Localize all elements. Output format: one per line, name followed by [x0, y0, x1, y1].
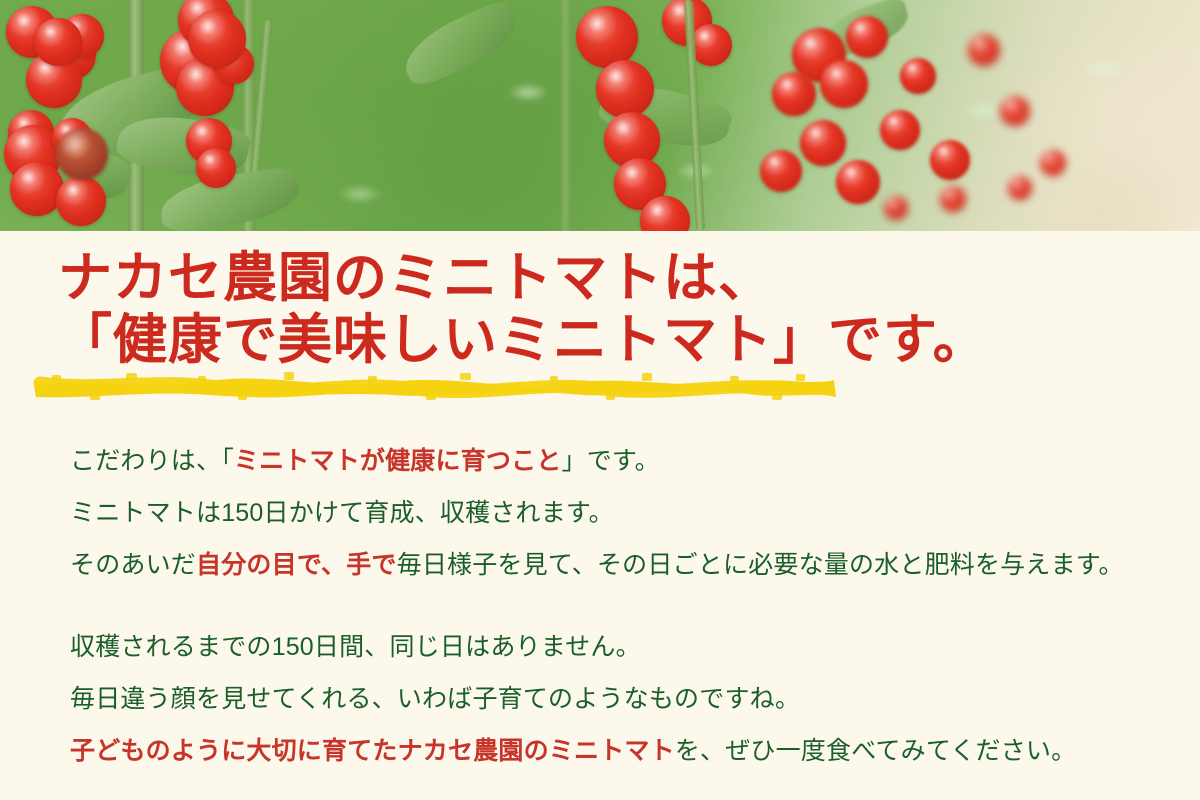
- headline-line-2-text: 「健康で美味しいミニトマト」です。: [58, 310, 988, 370]
- paragraph-spacer: [70, 591, 1170, 621]
- tomato-fruit: [930, 140, 970, 180]
- tomato-fruit: [1000, 96, 1030, 126]
- body-line-4-seg-1: 収穫されるまでの150日間、同じ日はありません。: [70, 633, 641, 661]
- body-line-3: そのあいだ自分の目で、手で毎日様子を見て、その日ごとに必要な量の水と肥料を与えま…: [70, 539, 1170, 591]
- body-line-1-seg-1: こだわりは、「: [70, 447, 234, 475]
- headline-line-2: 「健康で美味しいミニトマト」です。: [58, 309, 1148, 371]
- tomato-fruit: [196, 148, 236, 188]
- body-line-2: ミニトマトは150日かけて育成、収穫されます。: [70, 487, 1170, 539]
- headline-line-1: ナカセ農園のミニトマトは、: [58, 247, 1148, 309]
- tomato-fruit: [772, 72, 816, 116]
- body-line-3-seg-2-highlight: 自分の目で、手で: [196, 551, 397, 579]
- tomato-fruit: [56, 176, 106, 226]
- tomato-fruit: [880, 110, 920, 150]
- tomato-fruit: [940, 186, 966, 212]
- tomato-fruit: [884, 196, 908, 220]
- page-title: ナカセ農園のミニトマトは、 「健康で美味しいミニトマト」です。: [58, 247, 1148, 371]
- tomato-fruit: [836, 160, 880, 204]
- body-line-5: 毎日違う顔を見せてくれる、いわば子育てのようなものですね。: [70, 673, 1170, 725]
- tomato-fruit: [820, 60, 868, 108]
- tomato-fruit: [34, 18, 82, 66]
- tomato-fruit: [1008, 176, 1032, 200]
- tomato-fruit: [188, 10, 246, 68]
- tomato-fruit-unripe: [56, 128, 108, 180]
- body-line-1-seg-3: 」です。: [562, 447, 660, 475]
- body-line-3-seg-3: 毎日様子を見て、その日ごとに必要な量の水と肥料を与えます。: [397, 551, 1124, 579]
- body-line-6-seg-2: を、ぜひ一度食べてみてください。: [675, 737, 1076, 765]
- tomato-fruit: [968, 34, 1000, 66]
- body-line-3-seg-1: そのあいだ: [70, 551, 196, 579]
- yellow-highlight-stroke: [30, 370, 838, 400]
- body-line-1-seg-2-highlight: ミニトマトが健康に育つこと: [234, 447, 562, 475]
- body-line-6-seg-1-highlight: 子どものように大切に育てたナカセ農園のミニトマト: [70, 737, 675, 765]
- tomato-fruit: [846, 16, 888, 58]
- body-line-4: 収穫されるまでの150日間、同じ日はありません。: [70, 621, 1170, 673]
- tomato-fruit: [760, 150, 802, 192]
- tomato-fruit: [690, 24, 732, 66]
- body-line-6: 子どものように大切に育てたナカセ農園のミニトマトを、ぜひ一度食べてみてください。: [70, 725, 1170, 777]
- tomato-fruit: [576, 6, 638, 68]
- headline-line-1-text: ナカセ農園のミニトマトは、: [58, 248, 773, 308]
- body-line-1: こだわりは、「ミニトマトが健康に育つこと」です。: [70, 435, 1170, 487]
- tomato-fruit: [10, 162, 64, 216]
- hero-photo-banner: [0, 0, 1200, 231]
- tomato-stem: [560, 0, 572, 231]
- body-line-2-seg-1: ミニトマトは150日かけて育成、収穫されます。: [70, 499, 614, 527]
- tomato-fruit: [900, 58, 936, 94]
- tomato-fruit: [800, 120, 846, 166]
- body-copy: こだわりは、「ミニトマトが健康に育つこと」です。 ミニトマトは150日かけて育成…: [70, 435, 1170, 777]
- tomato-fruit: [1040, 150, 1066, 176]
- body-line-5-seg-1: 毎日違う顔を見せてくれる、いわば子育てのようなものですね。: [70, 685, 800, 713]
- promo-page: ナカセ農園のミニトマトは、 「健康で美味しいミニトマト」です。 こだわりは、「ミ…: [0, 0, 1200, 800]
- tomato-fruit: [596, 60, 654, 118]
